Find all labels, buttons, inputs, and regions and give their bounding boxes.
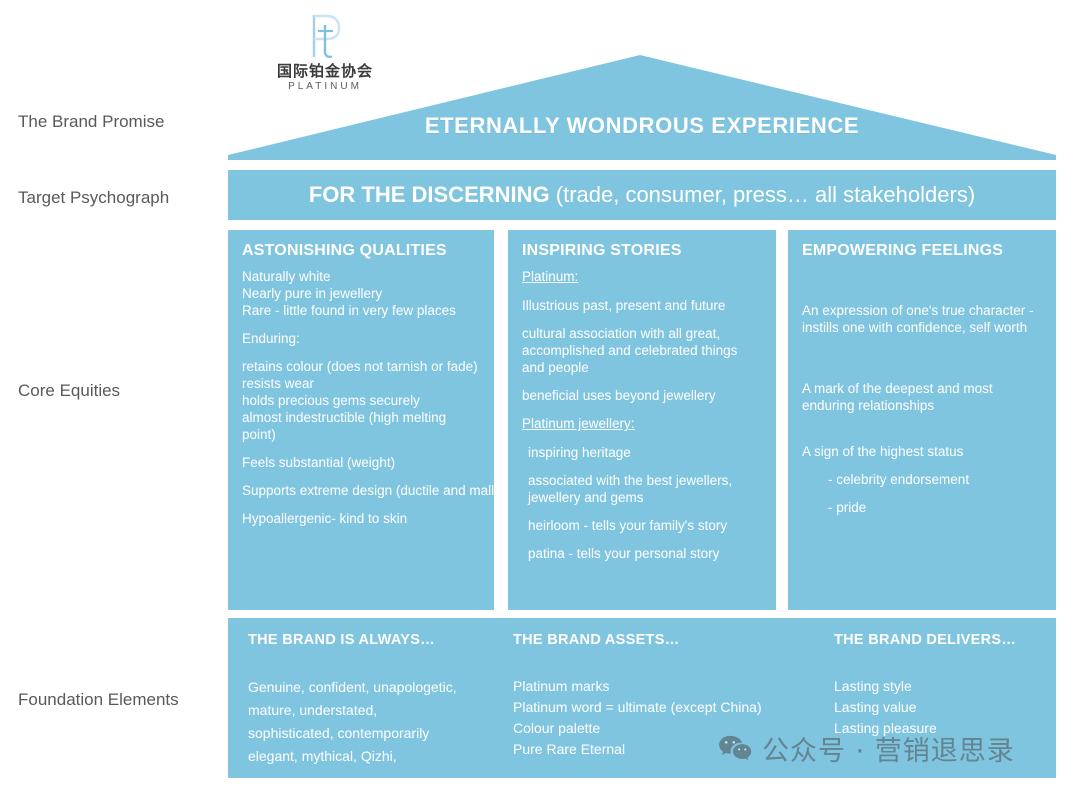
equity-line: Supports extreme design (ductile and mal… — [242, 482, 480, 499]
core-equity-column-astonishing-qualities: ASTONISHING QUALITIES Naturally white Ne… — [228, 230, 494, 610]
equity-line: Feels substantial (weight) — [242, 454, 480, 471]
foundation-column-brand-is-always: THE BRAND IS ALWAYS… Genuine, confident,… — [248, 632, 518, 768]
column-heading: THE BRAND DELIVERS… — [834, 632, 1044, 648]
equity-line: - celebrity endorsement — [802, 471, 1042, 488]
row-label-foundation-elements: Foundation Elements — [18, 690, 179, 710]
equity-line: A sign of the highest status — [802, 443, 1042, 460]
foundation-column-brand-delivers: THE BRAND DELIVERS… Lasting style Lastin… — [834, 632, 1044, 739]
core-equity-column-inspiring-stories: INSPIRING STORIES Platinum: Illustrious … — [508, 230, 776, 610]
equity-line: Enduring: — [242, 330, 480, 347]
foundation-column-brand-assets: THE BRAND ASSETS… Platinum marks Platinu… — [513, 632, 833, 760]
foundation-elements-band: THE BRAND IS ALWAYS… Genuine, confident,… — [228, 618, 1056, 778]
equity-line: inspiring heritage — [522, 444, 762, 461]
target-psychograph-band: FOR THE DISCERNING (trade, consumer, pre… — [228, 170, 1056, 220]
equity-line: associated with the best jewellers, jewe… — [522, 472, 762, 506]
equity-line: Hypoallergenic- kind to skin — [242, 510, 480, 527]
brand-promise-text: ETERNALLY WONDROUS EXPERIENCE — [228, 113, 1056, 139]
psychograph-rest-text: (trade, consumer, press… all stakeholder… — [550, 182, 976, 207]
equity-line: An expression of one's true character - … — [802, 302, 1042, 336]
equity-line: heirloom - tells your family's story — [522, 517, 762, 534]
foundation-line: sophisticated, contemporarily — [248, 722, 518, 745]
column-body: Lasting style Lasting value Lasting plea… — [834, 676, 1044, 739]
core-equity-column-empowering-feelings: EMPOWERING FEELINGS An expression of one… — [788, 230, 1056, 610]
foundation-line: elegant, mythical, Qizhi, — [248, 745, 518, 768]
foundation-line: Platinum word = ultimate (except China) — [513, 697, 833, 718]
column-heading: EMPOWERING FEELINGS — [802, 242, 1042, 260]
equity-line: Rare - little found in very few places — [242, 302, 480, 319]
row-label-target-psychograph: Target Psychograph — [18, 188, 169, 208]
brand-house-diagram: 国际铂金协会 PLATINUM The Brand Promise Target… — [0, 0, 1080, 794]
equity-line: almost indestructible (high melting poin… — [242, 409, 480, 443]
foundation-line: Platinum marks — [513, 676, 833, 697]
equity-line: beneficial uses beyond jewellery — [522, 387, 762, 404]
row-label-core-equities: Core Equities — [18, 381, 120, 401]
equity-line: A mark of the deepest and most enduring … — [802, 380, 1042, 414]
foundation-line: Lasting value — [834, 697, 1044, 718]
foundation-line: Lasting style — [834, 676, 1044, 697]
equity-subheading: Platinum jewellery: — [522, 415, 635, 432]
foundation-line: Pure Rare Eternal — [513, 739, 833, 760]
equity-subheading: Platinum: — [522, 268, 578, 285]
column-heading: INSPIRING STORIES — [522, 242, 762, 260]
column-body: Platinum marks Platinum word = ultimate … — [513, 676, 833, 760]
foundation-line: Colour palette — [513, 718, 833, 739]
foundation-line: mature, understated, — [248, 699, 518, 722]
core-equities-row: ASTONISHING QUALITIES Naturally white Ne… — [228, 230, 1056, 610]
equity-line: Naturally white — [242, 268, 480, 285]
column-heading: ASTONISHING QUALITIES — [242, 242, 480, 260]
column-heading: THE BRAND ASSETS… — [513, 632, 833, 648]
column-body: Genuine, confident, unapologetic, mature… — [248, 676, 518, 768]
equity-line: cultural association with all great, acc… — [522, 325, 762, 376]
equity-line: resists wear — [242, 375, 480, 392]
equity-line: Illustrious past, present and future — [522, 297, 762, 314]
equity-line: Nearly pure in jewellery — [242, 285, 480, 302]
equity-line: patina - tells your personal story — [522, 545, 762, 562]
equity-line: - pride — [802, 499, 1042, 516]
foundation-line: Lasting pleasure — [834, 718, 1044, 739]
equity-line: holds precious gems securely — [242, 392, 480, 409]
roof-shape: ETERNALLY WONDROUS EXPERIENCE — [228, 55, 1056, 160]
psychograph-bold-text: FOR THE DISCERNING — [309, 182, 550, 207]
target-psychograph-text: FOR THE DISCERNING (trade, consumer, pre… — [309, 182, 975, 208]
foundation-line: Genuine, confident, unapologetic, — [248, 676, 518, 699]
column-heading: THE BRAND IS ALWAYS… — [248, 632, 518, 648]
row-label-brand-promise: The Brand Promise — [18, 112, 164, 132]
equity-line: retains colour (does not tarnish or fade… — [242, 358, 480, 375]
